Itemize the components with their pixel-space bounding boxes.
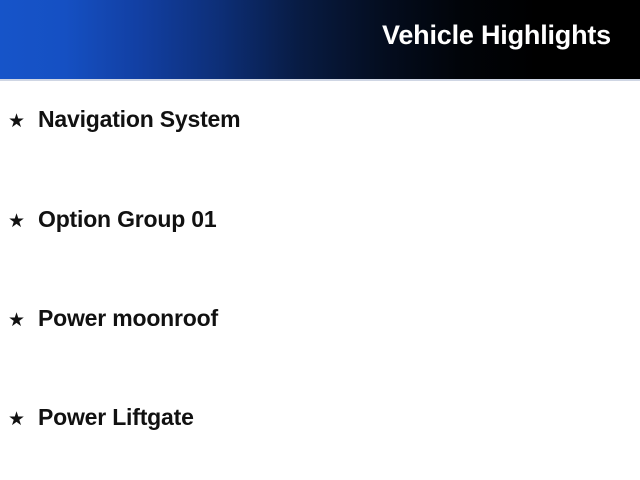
- list-item: ★ Navigation System: [8, 108, 240, 131]
- highlight-label: Power moonroof: [38, 307, 218, 330]
- star-icon: ★: [8, 112, 28, 131]
- highlight-label: Navigation System: [38, 108, 240, 131]
- list-item: ★ Power Liftgate: [8, 406, 194, 429]
- list-item: ★ Option Group 01: [8, 208, 216, 231]
- highlight-label: Option Group 01: [38, 208, 216, 231]
- highlights-list: ★ Navigation System ★ Option Group 01 ★ …: [0, 81, 640, 480]
- page-title: Vehicle Highlights: [382, 22, 611, 49]
- star-icon: ★: [8, 410, 28, 429]
- highlight-label: Power Liftgate: [38, 406, 194, 429]
- list-item: ★ Power moonroof: [8, 307, 218, 330]
- header-banner: Vehicle Highlights: [0, 0, 640, 79]
- vehicle-highlights-panel: Vehicle Highlights ★ Navigation System ★…: [0, 0, 640, 480]
- star-icon: ★: [8, 212, 28, 231]
- star-icon: ★: [8, 311, 28, 330]
